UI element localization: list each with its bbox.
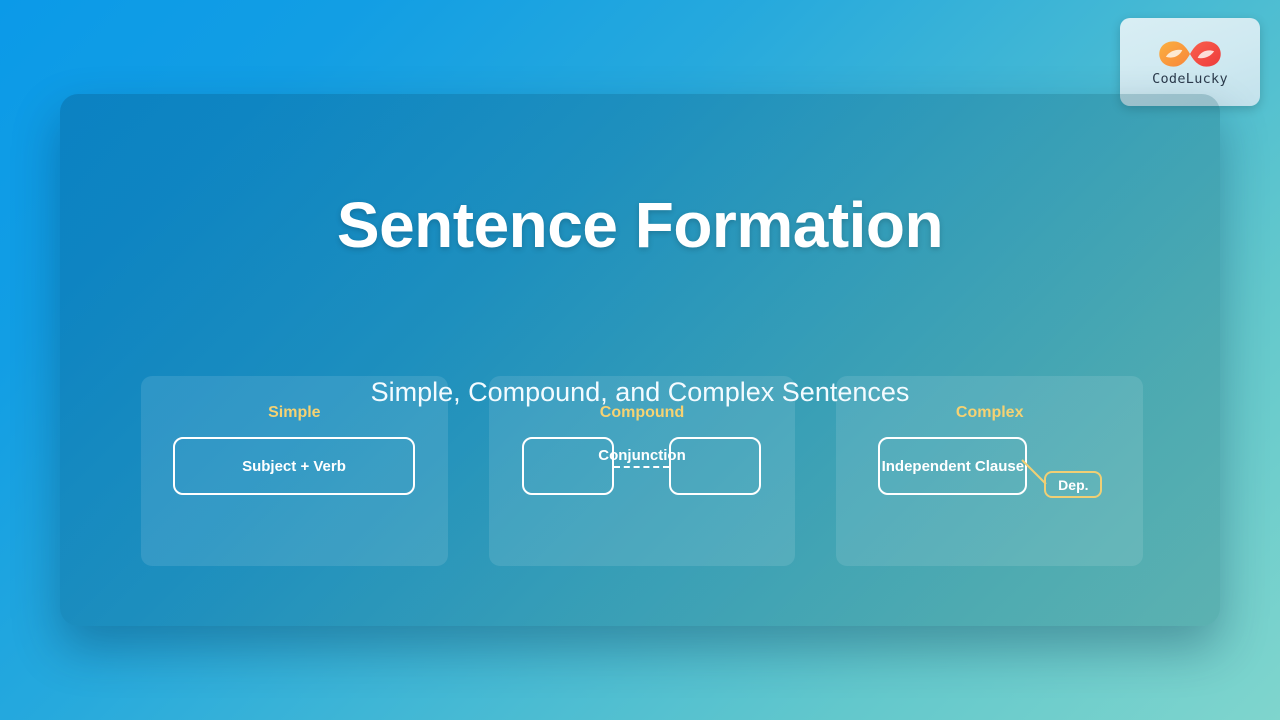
card-title-complex: Complex <box>836 404 1143 422</box>
card-title-compound: Compound <box>489 404 796 422</box>
main-panel: Sentence Formation Simple, Compound, and… <box>60 94 1220 626</box>
conjunction-label: Conjunction <box>489 447 796 464</box>
dashed-connector-line <box>614 466 669 468</box>
clause-box-dependent: Dep. <box>1044 471 1102 498</box>
card-complex[interactable]: Complex Independent Clause Dep. <box>836 376 1143 566</box>
clause-label: Independent Clause <box>882 458 1025 475</box>
clause-box-left <box>522 437 614 495</box>
page-title: Sentence Formation <box>60 188 1220 262</box>
clause-box-right <box>669 437 761 495</box>
clause-box-subject-verb: Subject + Verb <box>173 437 415 495</box>
brand-badge: CodeLucky <box>1120 18 1260 106</box>
clause-box-independent: Independent Clause <box>878 437 1027 495</box>
card-title-simple: Simple <box>141 404 448 422</box>
sentence-type-cards: Simple Subject + Verb Compound Conjuncti… <box>141 376 1143 566</box>
infinity-leaf-logo-icon <box>1157 37 1223 71</box>
brand-name: CodeLucky <box>1152 73 1228 87</box>
clause-label: Subject + Verb <box>242 458 346 475</box>
card-compound[interactable]: Compound Conjunction <box>489 376 796 566</box>
card-simple[interactable]: Simple Subject + Verb <box>141 376 448 566</box>
clause-label: Dep. <box>1058 477 1088 493</box>
